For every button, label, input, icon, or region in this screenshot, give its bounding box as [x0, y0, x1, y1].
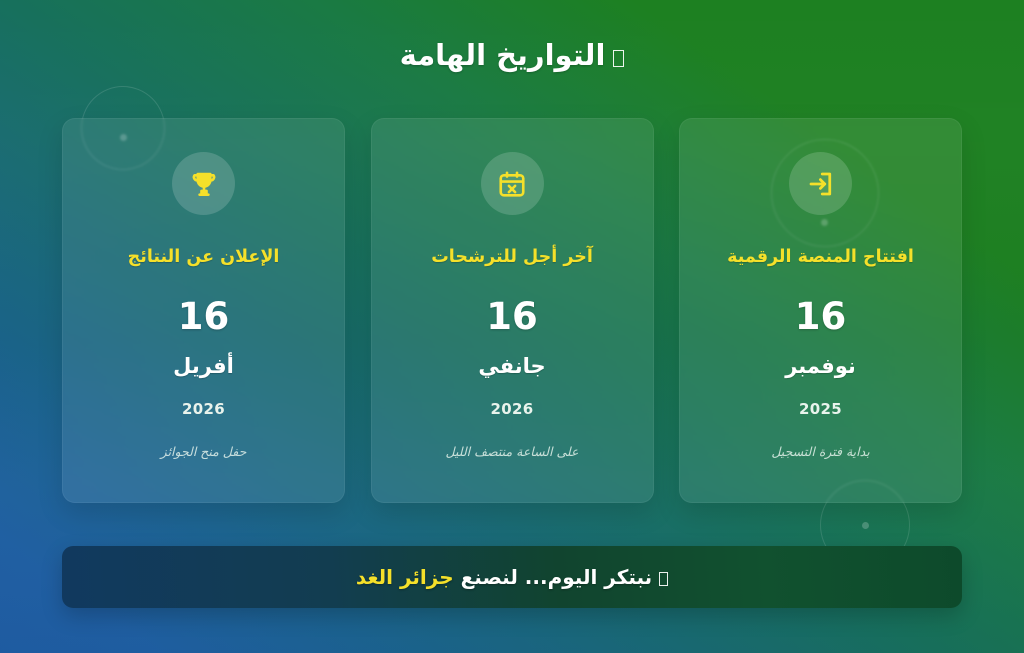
important-dates-card-row: الإعلان عن النتائج 16 أفريل 2026 حفل منح…	[62, 118, 962, 503]
login-arrow-icon	[789, 152, 852, 215]
date-card-month: نوفمبر	[785, 354, 856, 378]
date-card-month: جانفي	[478, 354, 545, 378]
date-card-year: 2025	[799, 400, 842, 418]
date-card-note: حفل منح الجوائز	[161, 444, 247, 459]
date-card-title: الإعلان عن النتائج	[128, 247, 280, 269]
date-card-results-announcement[interactable]: الإعلان عن النتائج 16 أفريل 2026 حفل منح…	[62, 118, 345, 503]
date-card-note: بداية فترة التسجيل	[771, 444, 869, 459]
trophy-icon	[172, 152, 235, 215]
date-card-year: 2026	[491, 400, 534, 418]
page-title-text: التواريخ الهامة	[400, 38, 606, 72]
decorative-dot	[862, 522, 869, 529]
slogan-plain-part: نبتكر اليوم... لنصنع	[461, 565, 653, 589]
date-card-day: 16	[178, 298, 230, 335]
missing-glyph-box-icon	[613, 50, 624, 67]
date-card-day: 16	[795, 298, 847, 335]
slogan-banner[interactable]: نبتكر اليوم... لنصنع جزائر الغد	[62, 546, 962, 608]
slogan-accent-part: جزائر الغد	[356, 565, 454, 589]
page-background: التواريخ الهامة الإعلان عن النتائج 16 أف…	[0, 0, 1024, 653]
date-card-month: أفريل	[173, 354, 234, 378]
date-card-title: آخر أجل للترشحات	[431, 247, 593, 269]
date-card-nomination-deadline[interactable]: آخر أجل للترشحات 16 جانفي 2026 على الساع…	[371, 118, 654, 503]
date-card-platform-opening[interactable]: افتتاح المنصة الرقمية 16 نوفمبر 2025 بدا…	[679, 118, 962, 503]
slogan-text: نبتكر اليوم... لنصنع جزائر الغد	[356, 565, 668, 589]
date-card-title: افتتاح المنصة الرقمية	[727, 247, 914, 269]
date-card-day: 16	[486, 298, 538, 335]
calendar-x-icon	[481, 152, 544, 215]
missing-glyph-box-icon	[659, 572, 668, 586]
date-card-note: على الساعة منتصف الليل	[446, 444, 579, 459]
date-card-year: 2026	[182, 400, 225, 418]
page-title: التواريخ الهامة	[0, 38, 1024, 72]
